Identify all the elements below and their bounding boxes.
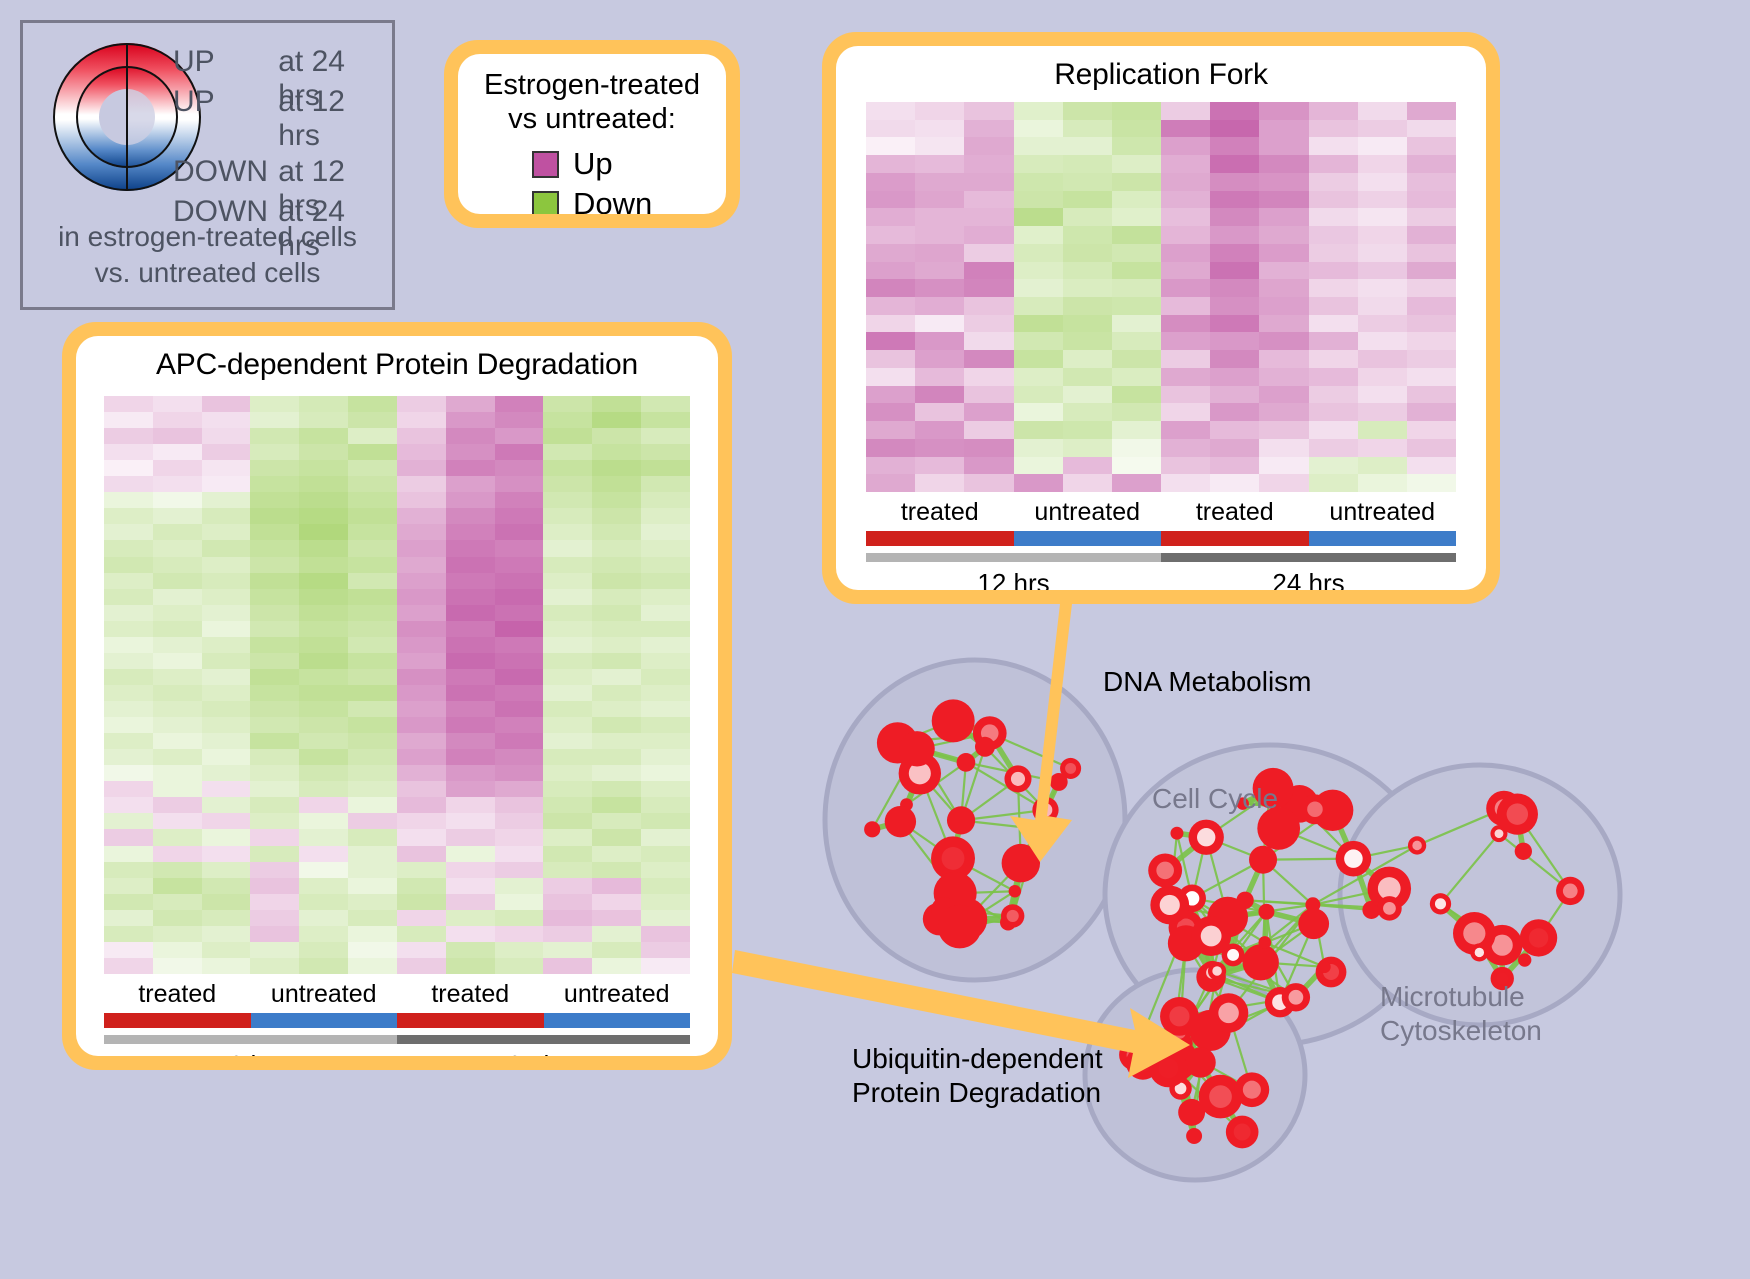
heatmap-cell [641,492,690,508]
heatmap-cell [446,396,495,412]
rf-time-24: 24 hrs [1161,568,1456,590]
heatmap-cell [299,797,348,813]
heatmap-cell [250,444,299,460]
heatmap-cell [299,492,348,508]
heatmap-cell [348,894,397,910]
heatmap-cell [915,350,964,368]
rf-condition-treated-12: treated [866,498,1014,527]
heatmap-cell [1407,155,1456,173]
heatmap-cell [397,412,446,428]
network-node[interactable] [1318,961,1330,973]
heatmap-cell [1014,208,1063,226]
network-node[interactable] [1060,758,1081,779]
heatmap-cell [1358,102,1407,120]
cluster-label-microtubule: Microtubule Cytoskeleton [1380,980,1542,1047]
heatmap-cell [153,508,202,524]
heatmap-cell [495,717,544,733]
network-node[interactable] [1518,953,1531,966]
heatmap-cell [202,846,251,862]
heatmap-cell [397,621,446,637]
heatmap-cell [1309,279,1358,297]
network-node[interactable] [1186,1128,1202,1144]
heatmap-cell [250,685,299,701]
heatmap-cell [299,460,348,476]
heatmap-cell [299,958,348,974]
legend-time-up-12: at 12 hrs [278,85,392,153]
heatmap-cell [543,733,592,749]
heatmap-cell [866,297,915,315]
heatmap-cell [202,910,251,926]
network-node[interactable] [864,821,880,837]
heatmap-cell [866,421,915,439]
heatmap-cell [299,910,348,926]
heatmap-cell [495,878,544,894]
heatmap-cell [543,412,592,428]
heatmap-cell [397,942,446,958]
heatmap-cell [1063,226,1112,244]
heatmap-cell [495,669,544,685]
network-node[interactable] [1249,846,1277,874]
heatmap-cell [299,765,348,781]
heatmap-cell [446,685,495,701]
heatmap-cell [153,557,202,573]
ubiquitin-line2: Protein Degradation [852,1076,1103,1110]
network-node[interactable] [1226,1116,1259,1149]
heatmap-cell [1259,386,1308,404]
heatmap-cell [153,492,202,508]
heatmap-cell [915,439,964,457]
heatmap-cell [397,813,446,829]
network-node[interactable] [1258,904,1274,920]
heatmap-cell [446,765,495,781]
heatmap-cell [543,797,592,813]
heatmap-cell [1161,403,1210,421]
heatmap-cell [397,396,446,412]
heatmap-cell [964,191,1013,209]
heatmap-cell [1063,474,1112,492]
heatmap-cell [1063,208,1112,226]
heatmap-cell [299,813,348,829]
heatmap-cell [1309,297,1358,315]
apc-inner: APC-dependent Protein Degradation treate… [76,336,718,1056]
heatmap-cell [641,862,690,878]
heatmap-cell [543,605,592,621]
heatmap-cell [964,244,1013,262]
updown-legend-heading: Estrogen-treated vs untreated: [458,68,726,136]
heatmap-cell [964,262,1013,280]
heatmap-cell [153,460,202,476]
network-node[interactable] [1235,1072,1270,1107]
heatmap-cell [446,428,495,444]
heatmap-cell [543,878,592,894]
heatmap-cell [866,226,915,244]
heatmap-cell [1309,332,1358,350]
up-color-swatch [532,151,559,178]
heatmap-cell [1407,173,1456,191]
heatmap-cell [1161,262,1210,280]
network-node[interactable] [1515,843,1532,860]
network-node[interactable] [1497,793,1538,834]
heatmap-cell [446,524,495,540]
heatmap-cell [299,605,348,621]
heatmap-cell [641,749,690,765]
heatmap-cell [866,262,915,280]
heatmap-cell [964,120,1013,138]
network-node[interactable] [899,731,934,766]
heatmap-cell [964,421,1013,439]
network-node[interactable] [1470,943,1488,961]
heatmap-cell [1161,120,1210,138]
network-node[interactable] [1282,983,1310,1011]
heatmap-cell [446,637,495,653]
heatmap-cell [1112,208,1161,226]
heatmap-cell [397,573,446,589]
apc-condition-untreated-12: untreated [251,980,398,1009]
heatmap-cell [495,524,544,540]
heatmap-cell [1063,386,1112,404]
heatmap-cell [1210,474,1259,492]
heatmap-cell [495,846,544,862]
heatmap-cell [543,829,592,845]
heatmap-cell [299,412,348,428]
heatmap-cell [348,444,397,460]
heatmap-cell [397,878,446,894]
heatmap-cell [1063,457,1112,475]
network-node[interactable] [1191,916,1231,956]
heatmap-cell [299,926,348,942]
heatmap-cell [348,589,397,605]
heatmap-cell [153,910,202,926]
ring-divider-line [126,43,128,191]
heatmap-cell [397,749,446,765]
heatmap-cell [202,412,251,428]
heatmap-cell [1063,120,1112,138]
heatmap-cell [153,749,202,765]
heatmap-cell [1161,368,1210,386]
heatmap-cell [592,653,641,669]
heatmap-cell [446,862,495,878]
network-node[interactable] [1556,877,1584,905]
heatmap-cell [104,958,153,974]
heatmap-cell [446,942,495,958]
heatmap-cell [250,476,299,492]
heatmap-cell [1112,120,1161,138]
network-node[interactable] [1166,1040,1178,1052]
rf-bar-untreated-12 [1014,531,1162,546]
heatmap-cell [1014,332,1063,350]
heatmap-cell [1210,244,1259,262]
heatmap-cell [1161,474,1210,492]
heatmap-cell [495,540,544,556]
heatmap-cell [592,621,641,637]
heatmap-cell [1014,350,1063,368]
network-node[interactable] [1377,896,1402,921]
heatmap-cell [250,524,299,540]
heatmap-cell [202,540,251,556]
heatmap-cell [915,120,964,138]
heatmap-cell [1014,368,1063,386]
scale-legend-rows: UP at 24 hrs UP at 12 hrs DOWN at 12 hrs… [173,45,392,235]
heatmap-cell [866,279,915,297]
heatmap-cell [1407,350,1456,368]
heatmap-cell [592,460,641,476]
network-node[interactable] [1004,765,1031,792]
heatmap-cell [202,524,251,540]
network-node[interactable] [1316,957,1347,988]
heatmap-cell [1161,297,1210,315]
heatmap-cell [299,878,348,894]
heatmap-cell [915,297,964,315]
heatmap-cell [543,637,592,653]
heatmap-cell [202,701,251,717]
network-node[interactable] [885,806,916,837]
heatmap-cell [1161,191,1210,209]
heatmap-cell [1161,386,1210,404]
legend-direction-up-12: UP [173,85,278,119]
network-node[interactable] [1520,919,1557,956]
heatmap-cell [1407,137,1456,155]
network-node[interactable] [1160,997,1199,1036]
heatmap-cell [397,476,446,492]
heatmap-cell [348,524,397,540]
rf-time-12: 12 hrs [866,568,1161,590]
heatmap-cell [1014,102,1063,120]
network-node[interactable] [1336,841,1372,877]
updown-legend-panel: Estrogen-treated vs untreated: Up Down [444,40,740,228]
network-node[interactable] [1148,853,1182,887]
heatmap-cell [1309,350,1358,368]
heatmap-cell [495,894,544,910]
heatmap-cell [397,701,446,717]
heatmap-cell [495,749,544,765]
network-node[interactable] [1002,844,1040,882]
heatmap-cell [397,540,446,556]
heatmap-cell [202,669,251,685]
heatmap-cell [1112,315,1161,333]
network-node[interactable] [1001,904,1024,927]
heatmap-cell [915,208,964,226]
heatmap-cell [1309,208,1358,226]
microtubule-line1: Microtubule [1380,980,1542,1014]
heatmap-cell [641,781,690,797]
heatmap-cell [866,350,915,368]
heatmap-cell [915,403,964,421]
heatmap-cell [348,958,397,974]
network-node[interactable] [1209,993,1248,1032]
updown-legend-inner: Estrogen-treated vs untreated: Up Down [458,54,726,214]
heatmap-cell [1210,403,1259,421]
heatmap-cell [1161,332,1210,350]
network-node[interactable] [1009,885,1022,898]
heatmap-cell [964,474,1013,492]
heatmap-cell [250,573,299,589]
heatmap-cell [495,605,544,621]
heatmap-cell [1309,191,1358,209]
heatmap-cell [543,396,592,412]
heatmap-cell [543,765,592,781]
heatmap-cell [446,573,495,589]
heatmap-cell [1112,137,1161,155]
heatmap-cell [348,508,397,524]
heatmap-cell [446,412,495,428]
heatmap-cell [104,765,153,781]
heatmap-cell [1112,457,1161,475]
heatmap-cell [153,797,202,813]
heatmap-cell [153,476,202,492]
heatmap-cell [299,621,348,637]
rf-condition-untreated-12: untreated [1014,498,1162,527]
heatmap-cell [915,368,964,386]
scale-legend-footer-line2: vs. untreated cells [23,255,392,291]
heatmap-cell [592,444,641,460]
heatmap-cell [915,155,964,173]
heatmap-cell [397,846,446,862]
heatmap-cell [1259,368,1308,386]
network-node[interactable] [1430,893,1451,914]
heatmap-cell [495,942,544,958]
network-node[interactable] [1243,944,1279,980]
heatmap-cell [446,669,495,685]
heatmap-cell [641,878,690,894]
network-node[interactable] [957,753,976,772]
network-node[interactable] [1170,827,1183,840]
heatmap-cell [153,701,202,717]
apc-bar-untreated-12 [251,1013,398,1028]
heatmap-cell [1358,403,1407,421]
heatmap-cell [299,428,348,444]
heatmap-cell [446,540,495,556]
rf-bar-treated-12 [866,531,1014,546]
heatmap-cell [1309,173,1358,191]
network-node[interactable] [1189,820,1224,855]
heatmap-cell [1407,457,1456,475]
network-node[interactable] [1258,936,1271,949]
heatmap-cell [915,421,964,439]
heatmap-cell [1063,173,1112,191]
heatmap-cell [153,524,202,540]
network-node[interactable] [1031,821,1047,837]
heatmap-cell [1358,226,1407,244]
network-node[interactable] [1185,1047,1215,1077]
network-node[interactable] [975,737,995,757]
heatmap-cell [1014,297,1063,315]
heatmap-cell [104,669,153,685]
heatmap-cell [641,444,690,460]
heatmap-cell [543,524,592,540]
heatmap-cell [592,573,641,589]
heatmap-cell [543,428,592,444]
heatmap-cell [1407,102,1456,120]
network-node[interactable] [938,905,982,949]
heatmap-cell [964,102,1013,120]
heatmap-cell [1309,137,1358,155]
network-node[interactable] [1300,794,1330,824]
heatmap-cell [250,749,299,765]
heatmap-cell [866,120,915,138]
heatmap-cell [1309,244,1358,262]
heatmap-cell [1063,315,1112,333]
heatmap-cell [1309,120,1358,138]
heatmap-cell [446,508,495,524]
heatmap-cell [543,621,592,637]
heatmap-cell [592,813,641,829]
network-node[interactable] [1032,797,1058,823]
network-node[interactable] [1150,886,1189,925]
network-node[interactable] [1149,1049,1187,1087]
heatmap-cell [397,605,446,621]
replication-fork-title: Replication Fork [836,46,1486,92]
updown-heading-line1: Estrogen-treated [458,68,726,102]
ubiquitin-line1: Ubiquitin-dependent [852,1042,1103,1076]
heatmap-cell [1358,244,1407,262]
heatmap-cell [397,910,446,926]
heatmap-cell [250,942,299,958]
heatmap-cell [104,781,153,797]
heatmap-cell [153,573,202,589]
heatmap-cell [1407,474,1456,492]
heatmap-cell [543,942,592,958]
network-node[interactable] [1408,836,1426,854]
network-node[interactable] [947,806,975,834]
heatmap-cell [543,813,592,829]
heatmap-cell [299,781,348,797]
heatmap-cell [1210,315,1259,333]
heatmap-cell [299,733,348,749]
heatmap-cell [446,781,495,797]
heatmap-cell [202,829,251,845]
heatmap-cell [964,226,1013,244]
heatmap-cell [592,749,641,765]
heatmap-cell [153,829,202,845]
heatmap-cell [964,386,1013,404]
heatmap-cell [1358,421,1407,439]
heatmap-cell [592,428,641,444]
heatmap-cell [641,717,690,733]
network-node[interactable] [1199,1075,1243,1119]
heatmap-cell [641,428,690,444]
heatmap-cell [1063,279,1112,297]
heatmap-cell [299,653,348,669]
down-label: Down [573,186,652,214]
heatmap-cell [543,557,592,573]
heatmap-cell [592,605,641,621]
heatmap-cell [1210,386,1259,404]
heatmap-cell [153,540,202,556]
heatmap-cell [397,557,446,573]
heatmap-cell [397,508,446,524]
heatmap-cell [641,829,690,845]
heatmap-cell [543,589,592,605]
up-label: Up [573,146,613,182]
heatmap-cell [299,685,348,701]
heatmap-cell [1161,208,1210,226]
heatmap-cell [866,439,915,457]
heatmap-cell [641,460,690,476]
heatmap-cell [1358,368,1407,386]
network-node[interactable] [1208,962,1226,980]
network-node[interactable] [932,699,975,742]
heatmap-cell [153,589,202,605]
heatmap-cell [348,765,397,781]
legend-item-down: Down [532,184,726,214]
heatmap-cell [1309,439,1358,457]
heatmap-cell [1210,208,1259,226]
heatmap-cell [104,444,153,460]
network-node[interactable] [1298,908,1329,939]
heatmap-cell [1112,244,1161,262]
heatmap-cell [1407,439,1456,457]
heatmap-cell [397,829,446,845]
